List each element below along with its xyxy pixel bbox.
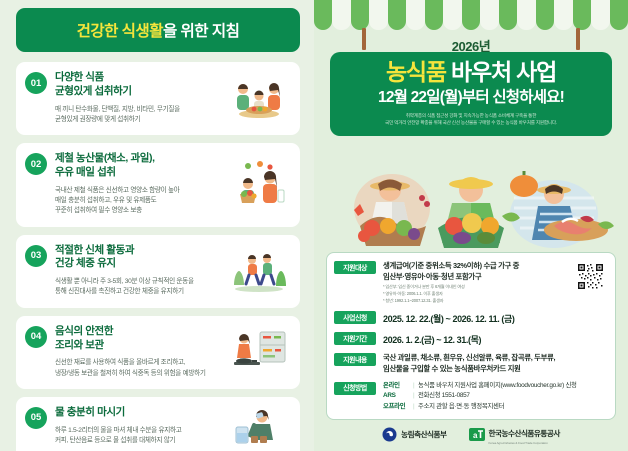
method-online: 온라인 | 농식품 바우처 지원사업 홈페이지(www.foodvoucher.… <box>383 381 607 392</box>
three-farmers-with-produce-illustration <box>314 168 628 254</box>
info-chip-label: 지원대상 <box>334 261 376 274</box>
program-note: 취약계층의 식품 접근성 강화 및 지속가능한 농식품 소비체계 구축을 통한 … <box>340 112 602 126</box>
method-value: 주소지 관할 읍·면·동 행정복지센터 <box>418 402 607 413</box>
guideline-description: 신선한 재료를 사용하여 식품을 올바르게 조리하고, 냉장/냉동 보관을 철저… <box>55 358 228 378</box>
info-row-value: 국산 과일류, 채소류, 흰우유, 신선알류, 육류, 잡곡류, 두부류, 임산… <box>383 352 607 374</box>
footer-logos: 농림축산식품부 a 한국농수산식품유통공사 Korea Agro-Fisheri… <box>314 423 628 445</box>
info-chip-label: 신청방법 <box>334 382 376 395</box>
guideline-description: 매 끼니 탄수화물, 단백질, 지방, 비타민, 무기질을 균형있게 권장량에 … <box>55 105 228 125</box>
guideline-card-03: 03 적절한 신체 활동과 건강 체중 유지 식생활 뿐 아니라 주 3-5회,… <box>16 235 300 308</box>
info-row-support-period: 지원기간 2026. 1. 2.(금) ~ 12. 31.(목) <box>334 331 607 346</box>
guideline-number-badge: 04 <box>25 326 47 348</box>
guideline-card-01: 01 다양한 식품 균형있게 섭취하기 매 끼니 탄수화물, 단백질, 지방, … <box>16 62 300 135</box>
method-offline: 오프라인 | 주소지 관할 읍·면·동 행정복지센터 <box>383 402 607 413</box>
program-title-highlight: 농식품 <box>386 59 446 85</box>
family-eating-illustration <box>228 77 290 119</box>
logo-sublabel: Korea Agro-Fisheries & Food Trade Corpor… <box>489 441 560 445</box>
poster-root: 건강한 식생활을 위한 지침 01 다양한 식품 균형있게 섭취하기 매 끼니 … <box>0 0 628 451</box>
page-title-highlight: 건강한 식생활 <box>77 23 163 40</box>
kitchen-cooking-fridge-illustration <box>228 330 290 374</box>
left-panel-healthy-eating-guide: 건강한 식생활을 위한 지침 01 다양한 식품 균형있게 섭취하기 매 끼니 … <box>0 0 314 451</box>
guideline-title: 음식의 안전한 조리와 보관 <box>55 325 228 353</box>
qr-code[interactable] <box>577 263 604 290</box>
info-footnote: * 청년: 1992.1.1~2007.12.31. 출생자 <box>383 298 607 305</box>
logo-label: 농림축산식품부 <box>401 429 446 440</box>
awning-decoration <box>314 0 628 30</box>
program-subtitle: 12월 22일(월)부터 신청하세요! <box>340 89 602 108</box>
info-chip-label: 지원기간 <box>334 332 376 345</box>
program-title: 농식품 바우처 사업 <box>340 60 602 86</box>
page-title: 건강한 식생활을 위한 지침 <box>77 19 240 41</box>
guideline-description: 국내산 제철 식품은 신선하고 영양소 함량이 높아 매일 충분히 섭취하고, … <box>55 186 228 217</box>
method-key: 온라인 <box>383 381 413 392</box>
info-row-value: 생계급여(기준 중위소득 32%이하) 수급 가구 중 임산부·영유아·아동·청… <box>383 260 607 282</box>
guideline-title: 적절한 신체 활동과 건강 체중 유지 <box>55 244 228 272</box>
guideline-number-badge: 02 <box>25 153 47 175</box>
at-corporation-logo-icon: a <box>469 428 485 441</box>
guideline-number-badge: 05 <box>25 407 47 429</box>
info-row-support-content: 지원내용 국산 과일류, 채소류, 흰우유, 신선알류, 육류, 잡곡류, 두부… <box>334 352 607 374</box>
info-footnote: * 영유아·아동: 2006.1.1. 이후 출생자 <box>383 291 607 298</box>
program-title-rest: 바우처 사업 <box>446 59 556 85</box>
method-ars: ARS | 전화신청 1551-0857 <box>383 391 607 402</box>
logo-label: 한국농수산식품유통공사 <box>489 429 560 438</box>
guideline-card-05: 05 물 충분히 마시기 하루 1.5-2리터의 물을 마셔 체내 수분을 유지… <box>16 397 300 451</box>
info-chip-label: 사업신청 <box>334 311 376 324</box>
guideline-description: 식생활 뿐 아니라 주 3-5회, 30분 이상 규칙적인 운동을 통해 신진대… <box>55 277 228 297</box>
guideline-card-02: 02 제철 농산물(채소, 과일), 우유 매일 섭취 국내산 제철 식품은 신… <box>16 143 300 226</box>
guideline-number-badge: 03 <box>25 245 47 267</box>
svg-text:a: a <box>473 431 478 440</box>
guideline-card-04: 04 음식의 안전한 조리와 보관 신선한 재료를 사용하여 식품을 올바르게 … <box>16 316 300 389</box>
government-emblem-icon <box>382 427 397 442</box>
guideline-title: 물 충분히 마시기 <box>55 406 228 420</box>
left-panel-header: 건강한 식생활을 위한 지침 <box>16 8 300 52</box>
method-value[interactable]: 농식품 바우처 지원사업 홈페이지(www.foodvoucher.go.kr)… <box>418 381 607 392</box>
info-row-value: 2026. 1. 2.(금) ~ 12. 31.(목) <box>383 331 607 346</box>
method-key: ARS <box>383 391 413 402</box>
method-value: 전화신청 1551-0857 <box>418 391 607 402</box>
page-title-rest: 을 위한 지침 <box>163 23 239 40</box>
right-panel-voucher-program: 2026년 농식품 바우처 사업 12월 22일(월)부터 신청하세요! 취약계… <box>314 0 628 451</box>
info-footnote: * 임산부: 임신 중이거나 분만 후 6개월 이내인 여성 <box>383 284 607 291</box>
man-drinking-water-illustration <box>228 407 290 451</box>
program-info-card: 지원대상 생계급여(기준 중위소득 32%이하) 수급 가구 중 임산부·영유아… <box>326 252 616 420</box>
guideline-title: 다양한 식품 균형있게 섭취하기 <box>55 71 228 99</box>
guideline-number-badge: 01 <box>25 72 47 94</box>
info-row-value: 2025. 12. 22.(월) ~ 2026. 12. 11. (금) <box>383 310 607 325</box>
guideline-description: 하루 1.5-2리터의 물을 마셔 체내 수분을 유지하고 커피, 탄산음료 등… <box>55 426 228 446</box>
guideline-title: 제철 농산물(채소, 과일), 우유 매일 섭취 <box>55 152 228 180</box>
info-row-application-period: 사업신청 2025. 12. 22.(월) ~ 2026. 12. 11. (금… <box>334 310 607 325</box>
method-key: 오프라인 <box>383 402 413 413</box>
info-row-target: 지원대상 생계급여(기준 중위소득 32%이하) 수급 가구 중 임산부·영유아… <box>334 260 607 304</box>
mother-child-vegetables-illustration <box>228 160 290 208</box>
info-chip-label: 지원내용 <box>334 353 376 366</box>
signboard: 농식품 바우처 사업 12월 22일(월)부터 신청하세요! 취약계층의 식품 … <box>330 52 612 136</box>
running-couple-illustration <box>228 249 290 293</box>
info-row-application-method: 신청방법 온라인 | 농식품 바우처 지원사업 홈페이지(www.foodvou… <box>334 381 607 413</box>
logo-mafra: 농림축산식품부 <box>382 427 446 442</box>
logo-at-corp: a 한국농수산식품유통공사 Korea Agro-Fisheries & Foo… <box>469 423 560 445</box>
